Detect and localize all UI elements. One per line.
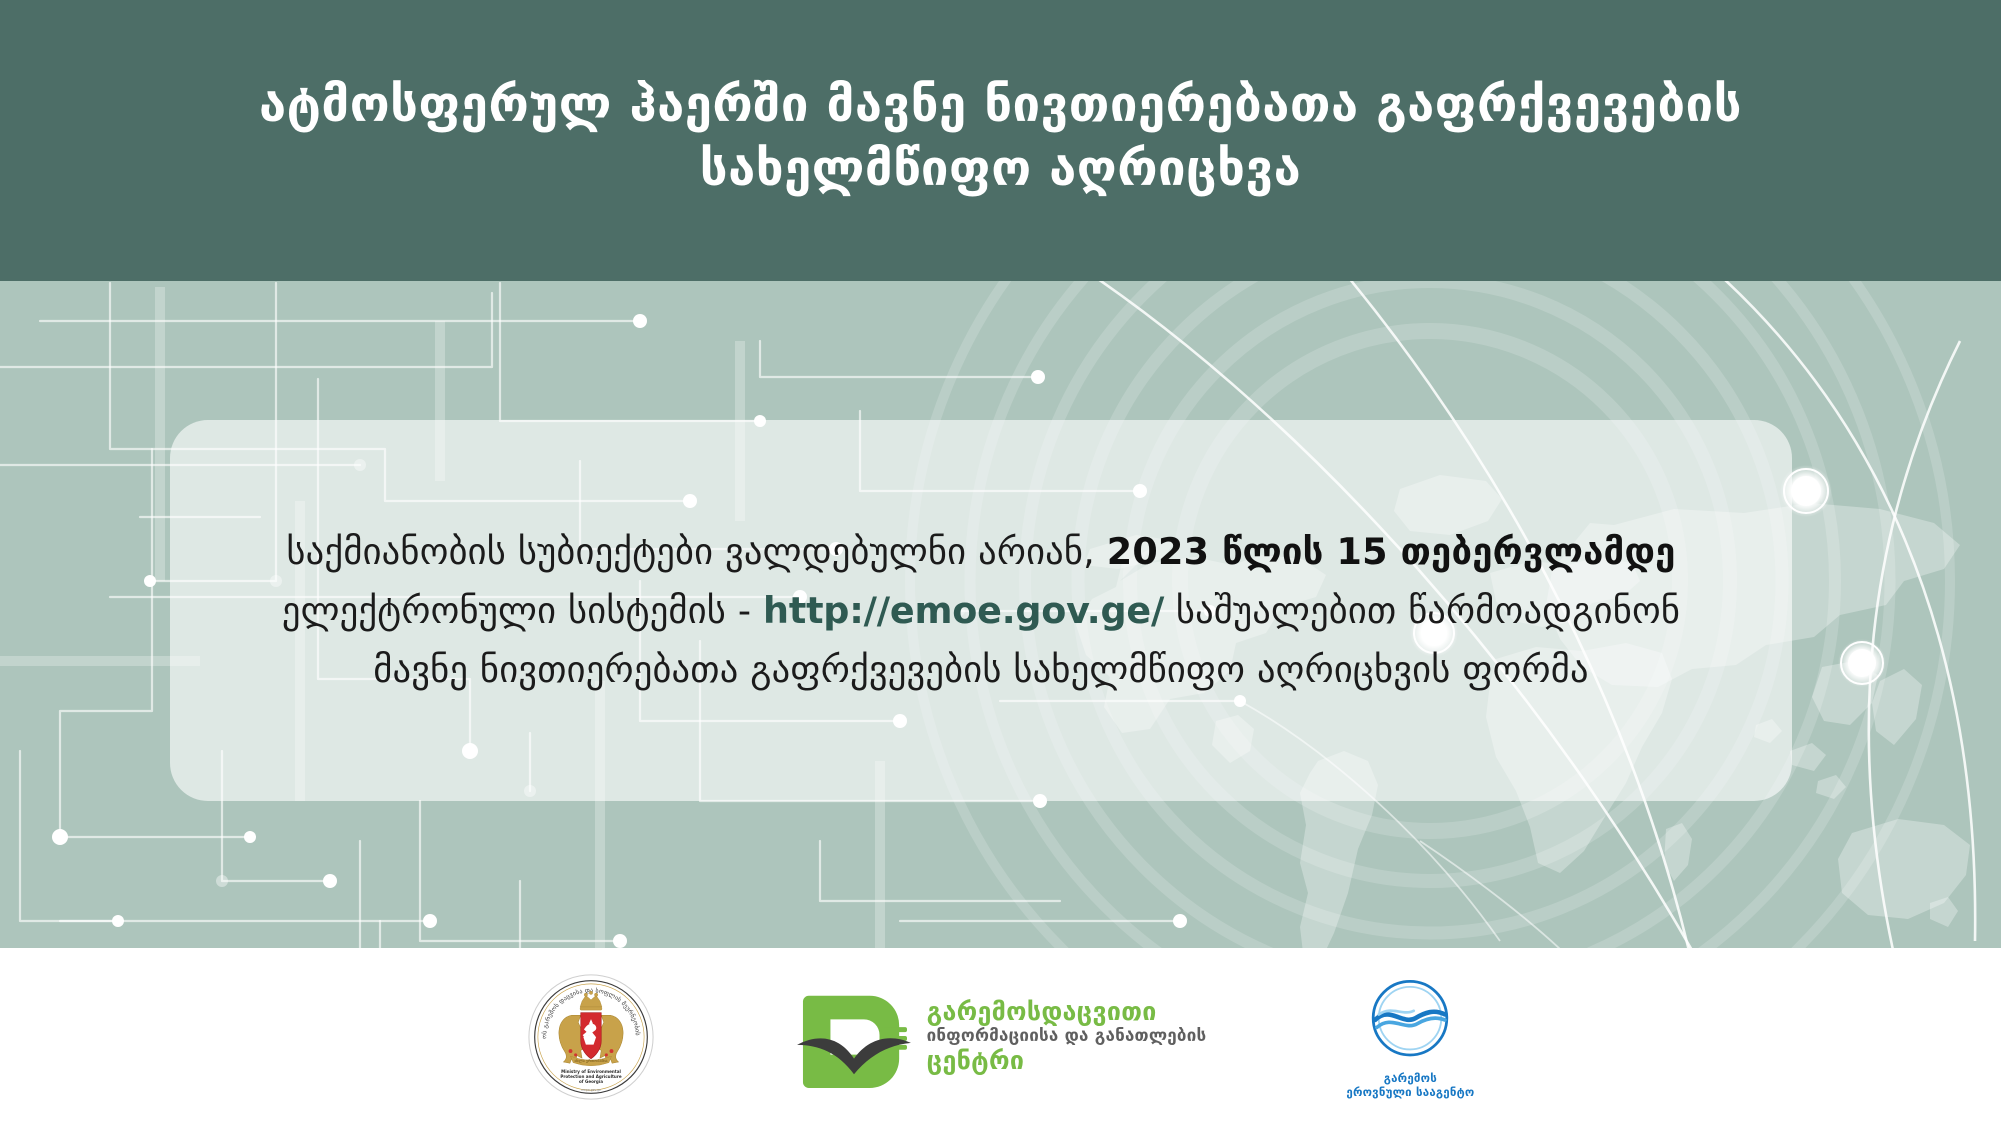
notice-segment-3: ელექტრონული სისტემის - xyxy=(282,589,763,632)
svg-text:mepa.gov.ge: mepa.gov.ge xyxy=(581,1087,601,1091)
banner-header: ატმოსფერულ ჰაერში მავნე ნივთიერებათა გაფ… xyxy=(0,0,2001,281)
logo-environmental-information-education-centre: გარემოსდაცვითი ინფორმაციისა და განათლები… xyxy=(795,984,1207,1090)
svg-text:of Georgia: of Georgia xyxy=(579,1079,603,1084)
eiec-line-1: გარემოსდაცვითი xyxy=(927,999,1207,1025)
logo-national-environmental-agency: გარემოს ეროვნული სააგენტო xyxy=(1346,974,1474,1100)
svg-text:ძალა ერთობაშია: ძალა ერთობაშია xyxy=(574,1057,607,1062)
notice-deadline-bold: 2023 წლის 15 თებერვლამდე xyxy=(1107,530,1676,573)
eiec-wordmark: გარემოსდაცვითი ინფორმაციისა და განათლები… xyxy=(927,999,1207,1074)
svg-text:Ministry of Environmental: Ministry of Environmental xyxy=(561,1068,621,1073)
header-title-line-2: სახელმწიფო აღრიცხვა xyxy=(700,140,1302,198)
banner-root: ატმოსფერულ ჰაერში მავნე ნივთიერებათა გაფ… xyxy=(0,0,2001,1125)
svg-text:Protection and Agriculture: Protection and Agriculture xyxy=(560,1073,621,1078)
eiec-line-2: ინფორმაციისა და განათლების xyxy=(927,1028,1207,1046)
nea-wordmark: გარემოს ეროვნული სააგენტო xyxy=(1346,1071,1474,1100)
nea-wave-circle-icon xyxy=(1364,974,1456,1066)
nea-line-2: ეროვნული სააგენტო xyxy=(1346,1085,1474,1099)
logo-ministry-of-environmental-protection: საქართველოს გარემოს დაცვისა და სოფლის მე… xyxy=(527,973,655,1101)
eiec-mark-icon xyxy=(795,984,913,1090)
banner-body: საქმიანობის სუბიექტები ვალდებულნი არიან,… xyxy=(0,281,2001,948)
footer-logo-bar: საქართველოს გარემოს დაცვისა და სოფლის მე… xyxy=(0,948,2001,1125)
ministry-seal-icon: საქართველოს გარემოს დაცვისა და სოფლის მე… xyxy=(527,973,655,1101)
eiec-line-3: ცენტრი xyxy=(927,1048,1207,1074)
nea-line-1: გარემოს xyxy=(1346,1071,1474,1085)
notice-segment-1: საქმიანობის სუბიექტები ვალდებულნი არიან, xyxy=(286,530,1106,573)
emoe-portal-link[interactable]: http://emoe.gov.ge/ xyxy=(763,589,1164,632)
notice-card-text: საქმიანობის სუბიექტები ვალდებულნი არიან,… xyxy=(271,522,1691,699)
header-title-line-1: ატმოსფერულ ჰაერში მავნე ნივთიერებათა გაფ… xyxy=(259,76,1742,134)
notice-card: საქმიანობის სუბიექტები ვალდებულნი არიან,… xyxy=(170,420,1792,801)
